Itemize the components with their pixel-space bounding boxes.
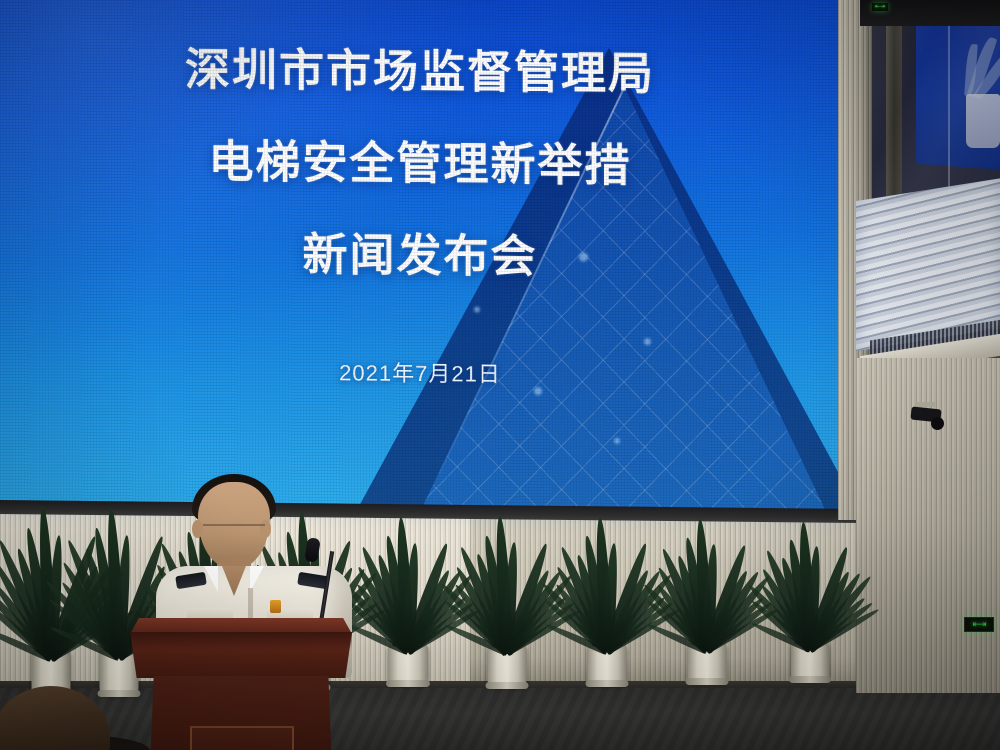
microphone-icon	[304, 537, 321, 563]
slide-date: 2021年7月21日	[0, 352, 846, 392]
podium-inset-panel	[190, 726, 294, 750]
exit-sign-upper: ⇤⇥	[872, 3, 888, 11]
speaker-glasses	[203, 524, 265, 535]
exit-arrow-icon: ⇤⇥	[972, 620, 985, 629]
slide-title-line-2: 电梯安全管理新举措	[0, 137, 846, 190]
slide-title-line-1: 深圳市市场监督管理局	[0, 45, 846, 98]
speaker-ear-left	[192, 520, 203, 538]
glass-window	[872, 0, 1000, 200]
led-presentation-screen: 深圳市市场监督管理局 电梯安全管理新举措 新闻发布会 2021年7月21日	[0, 0, 846, 512]
emergency-exit-sign: ⇤⇥	[964, 617, 994, 632]
uniform-badge	[270, 600, 281, 613]
slide-title-line-3: 新闻发布会	[0, 229, 846, 282]
potted-plant	[648, 536, 766, 682]
slide-text-block: 深圳市市场监督管理局 电梯安全管理新举措 新闻发布会 2021年7月21日	[0, 0, 846, 512]
exit-arrow-icon: ⇤⇥	[875, 4, 885, 10]
window-glare	[872, 0, 1000, 200]
wooden-podium	[130, 618, 352, 750]
podium-shadow	[130, 632, 352, 650]
security-camera-icon	[911, 406, 945, 424]
camera-lens	[931, 417, 944, 430]
press-conference-photo: 深圳市市场监督管理局 电梯安全管理新举措 新闻发布会 2021年7月21日 ⇤⇥…	[0, 0, 1000, 750]
potted-plant	[752, 538, 868, 680]
